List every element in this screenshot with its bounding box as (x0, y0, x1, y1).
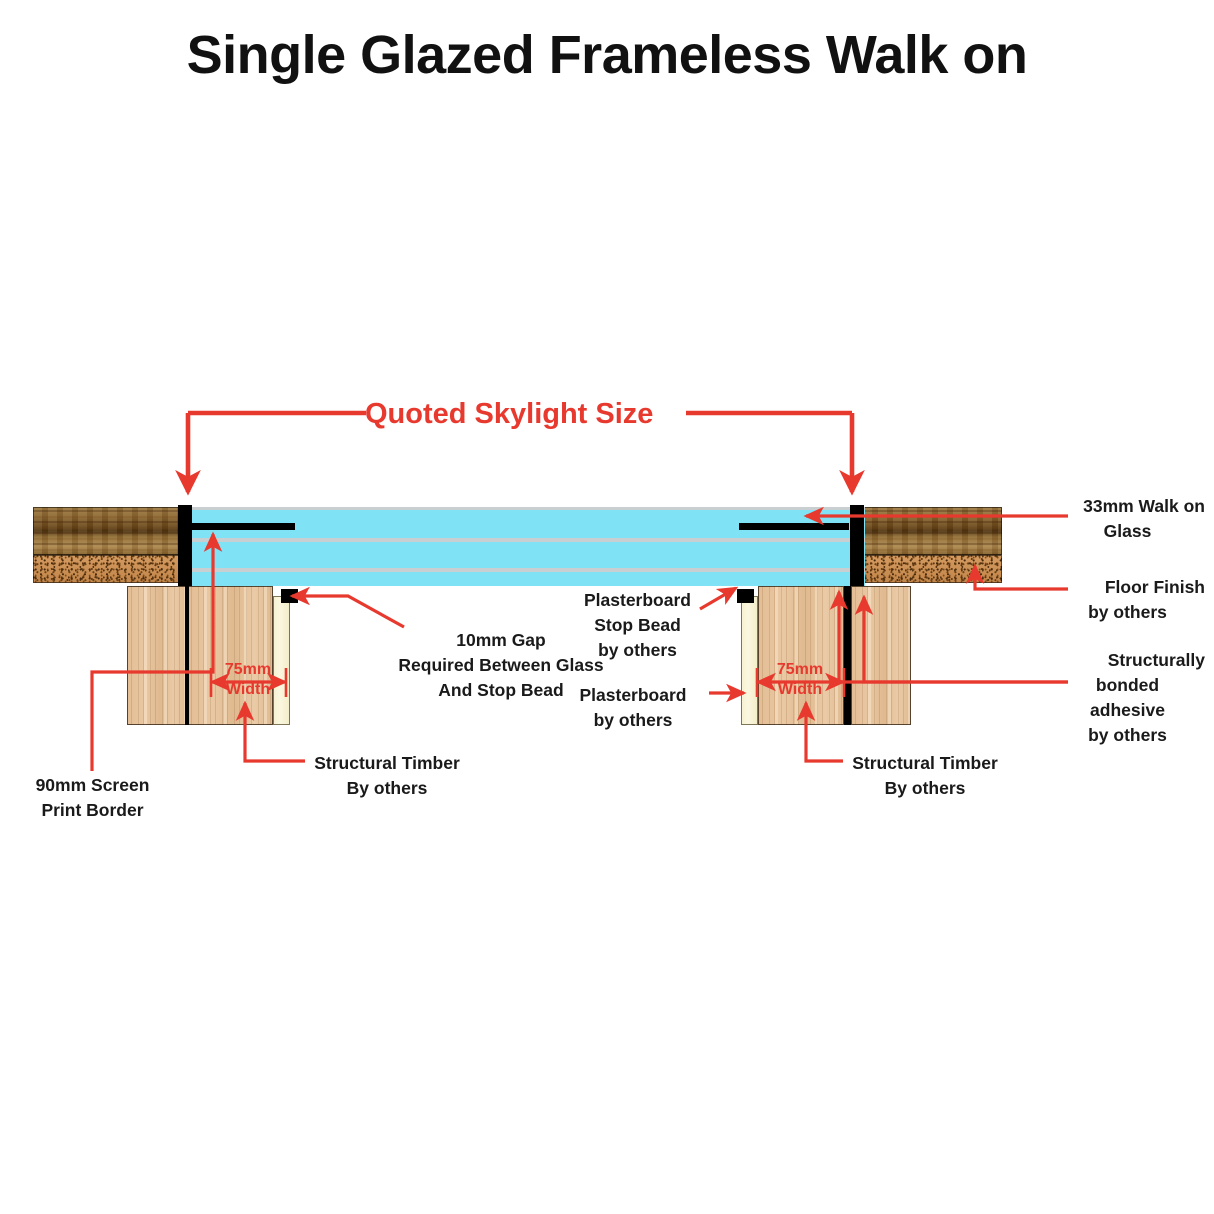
dimension-left-width: 75mm Width (196, 660, 300, 700)
annotation-screen-print-line-2: Print Border (10, 798, 175, 823)
annotation-adhesive-line-2: bonded (1050, 673, 1205, 698)
dimension-right-width-label: Width (748, 680, 852, 700)
annotation-plasterboard: Plasterboard by others (558, 683, 708, 733)
quoted-skylight-size-label: Quoted Skylight Size (365, 398, 653, 431)
annotation-adhesive-line-4: by others (1050, 723, 1205, 748)
dimension-right-width-value: 75mm (748, 660, 852, 680)
diagram-canvas: Single Glazed Frameless Walk on (0, 0, 1214, 1214)
annotation-floor-finish-line-2: by others (1050, 600, 1205, 625)
annotation-plasterboard-line-2: by others (558, 708, 708, 733)
annotation-walk-on-glass-line-1: 33mm Walk on (1050, 494, 1205, 519)
annotation-floor-finish-line-1: Floor Finish (1050, 575, 1205, 600)
annotation-plasterboard-line-1: Plasterboard (558, 683, 708, 708)
annotation-walk-on-glass-line-2: Glass (1050, 519, 1205, 544)
dimension-left-width-label: Width (196, 680, 300, 700)
annotation-stop-bead-line-2: Stop Bead (545, 613, 730, 638)
dimension-left-width-value: 75mm (196, 660, 300, 680)
annotation-screen-print-line-1: 90mm Screen (10, 773, 175, 798)
annotation-timber-left-line-2: By others (307, 776, 467, 801)
annotation-adhesive-line-1: Structurally (1050, 648, 1205, 673)
annotation-screen-print-border: 90mm Screen Print Border (10, 773, 175, 823)
annotation-timber-left-line-1: Structural Timber (307, 751, 467, 776)
annotation-walk-on-glass: 33mm Walk on Glass (1050, 494, 1205, 544)
annotation-structural-timber-right: Structural Timber By others (845, 751, 1005, 801)
annotation-structurally-bonded-adhesive: Structurally bonded adhesive by others (1050, 648, 1205, 747)
dimension-right-width: 75mm Width (748, 660, 852, 700)
annotation-stop-bead-line-1: Plasterboard (545, 588, 730, 613)
annotation-structural-timber-left: Structural Timber By others (307, 751, 467, 801)
annotation-timber-right-line-2: By others (845, 776, 1005, 801)
annotation-floor-finish: Floor Finish by others (1050, 575, 1205, 625)
annotation-stop-bead-line-3: by others (545, 638, 730, 663)
annotation-timber-right-line-1: Structural Timber (845, 751, 1005, 776)
annotation-plasterboard-stop-bead: Plasterboard Stop Bead by others (545, 588, 730, 663)
annotation-adhesive-line-3: adhesive (1050, 698, 1205, 723)
